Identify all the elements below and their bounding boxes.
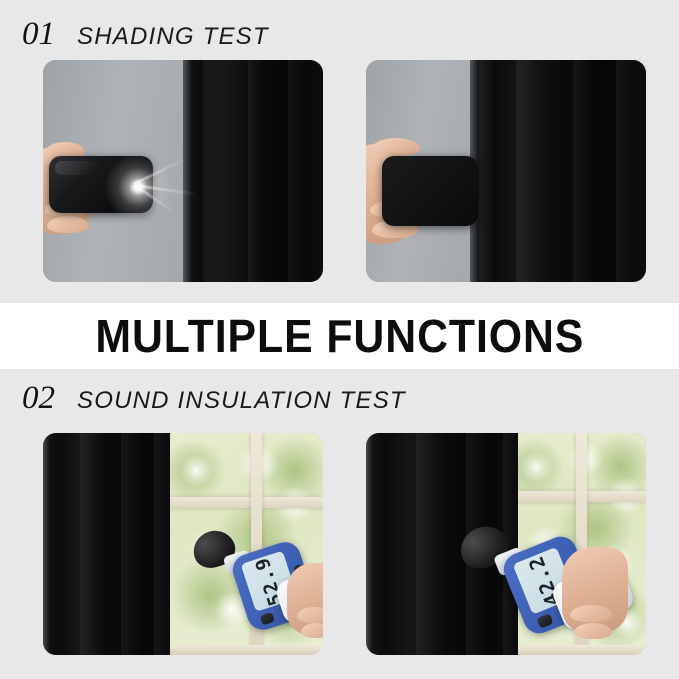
sound-level-meter: 42.2 xyxy=(458,521,638,647)
panel-sound-window-open: 52.9 xyxy=(43,433,323,655)
scene-shading-light-on xyxy=(43,60,323,282)
panel-shade-light-blocked xyxy=(366,60,646,282)
meter-mode-button[interactable] xyxy=(260,612,275,626)
section-title-01: SHADING TEST xyxy=(77,23,269,51)
smartphone xyxy=(382,156,478,226)
banner-title: MULTIPLE FUNCTIONS xyxy=(95,309,584,363)
finger xyxy=(47,216,89,233)
finger xyxy=(372,138,420,156)
blackout-curtain xyxy=(43,433,170,655)
flashlight-glow xyxy=(105,154,171,220)
section-heading-01: 01 SHADING TEST xyxy=(22,16,269,53)
finger xyxy=(301,623,323,638)
phone-screen-sheen xyxy=(55,161,112,176)
scene-shading-light-blocked xyxy=(366,60,646,282)
blackout-curtain xyxy=(470,60,646,282)
blackout-curtain xyxy=(183,60,323,282)
finger xyxy=(297,607,323,623)
section-number-01: 01 xyxy=(22,16,55,53)
panel-sound-curtain-blocking: 42.2 xyxy=(366,433,646,655)
meter-mode-button[interactable] xyxy=(537,613,554,628)
section-number-02: 02 xyxy=(22,380,55,417)
finger xyxy=(574,623,612,639)
scene-sound-window-open: 52.9 xyxy=(43,433,323,655)
window-mullion-horizontal xyxy=(166,497,323,508)
panel-shade-light-on xyxy=(43,60,323,282)
section-heading-02: 02 SOUND INSULATION TEST xyxy=(22,380,406,417)
sound-level-meter: 52.9 xyxy=(191,529,323,647)
infographic-root: 01 SHADING TEST xyxy=(0,0,679,679)
scene-sound-curtain-blocking: 42.2 xyxy=(366,433,646,655)
section-title-02: SOUND INSULATION TEST xyxy=(77,387,406,415)
banner: MULTIPLE FUNCTIONS xyxy=(0,303,679,369)
finger xyxy=(570,605,612,622)
